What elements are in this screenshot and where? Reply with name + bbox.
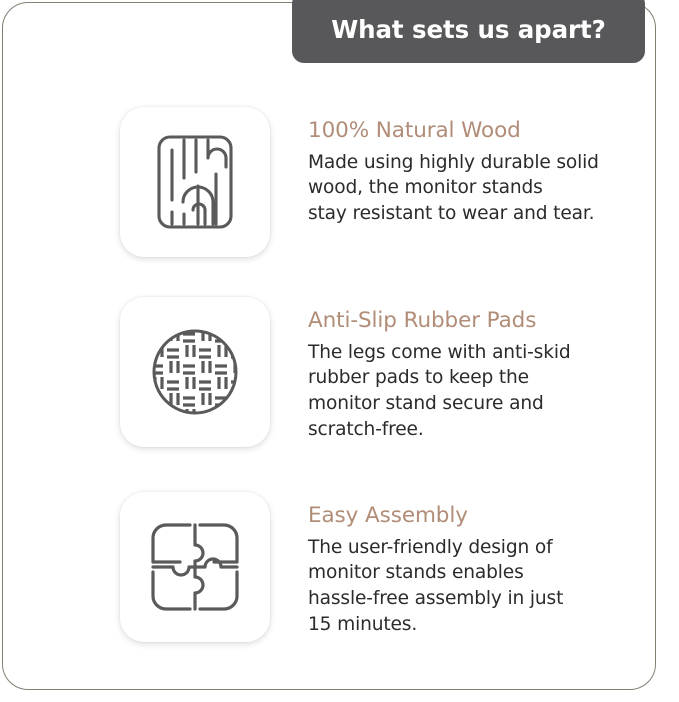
feature-body: The legs come with anti-skid rubber pads… [308, 340, 638, 442]
feature-text-anti-slip-pads: Anti-Slip Rubber Pads The legs come with… [308, 297, 638, 442]
feature-item-easy-assembly: Easy Assembly The user-friendly design o… [120, 492, 638, 642]
wood-grain-icon [152, 134, 238, 230]
puzzle-pieces-icon [149, 521, 241, 613]
feature-list: 100% Natural Wood Made using highly dura… [0, 0, 679, 702]
rubber-pad-weave-icon [147, 324, 243, 420]
feature-body: The user-friendly design of monitor stan… [308, 535, 638, 637]
feature-heading: Anti-Slip Rubber Pads [308, 309, 638, 334]
feature-text-natural-wood: 100% Natural Wood Made using highly dura… [308, 107, 638, 227]
feature-item-natural-wood: 100% Natural Wood Made using highly dura… [120, 107, 638, 257]
icon-tile-anti-slip-pads [120, 297, 270, 447]
feature-heading: Easy Assembly [308, 504, 638, 529]
feature-item-anti-slip-pads: Anti-Slip Rubber Pads The legs come with… [120, 297, 638, 447]
feature-heading: 100% Natural Wood [308, 119, 638, 144]
feature-text-easy-assembly: Easy Assembly The user-friendly design o… [308, 492, 638, 637]
icon-tile-easy-assembly [120, 492, 270, 642]
icon-tile-natural-wood [120, 107, 270, 257]
feature-body: Made using highly durable solid wood, th… [308, 150, 638, 227]
